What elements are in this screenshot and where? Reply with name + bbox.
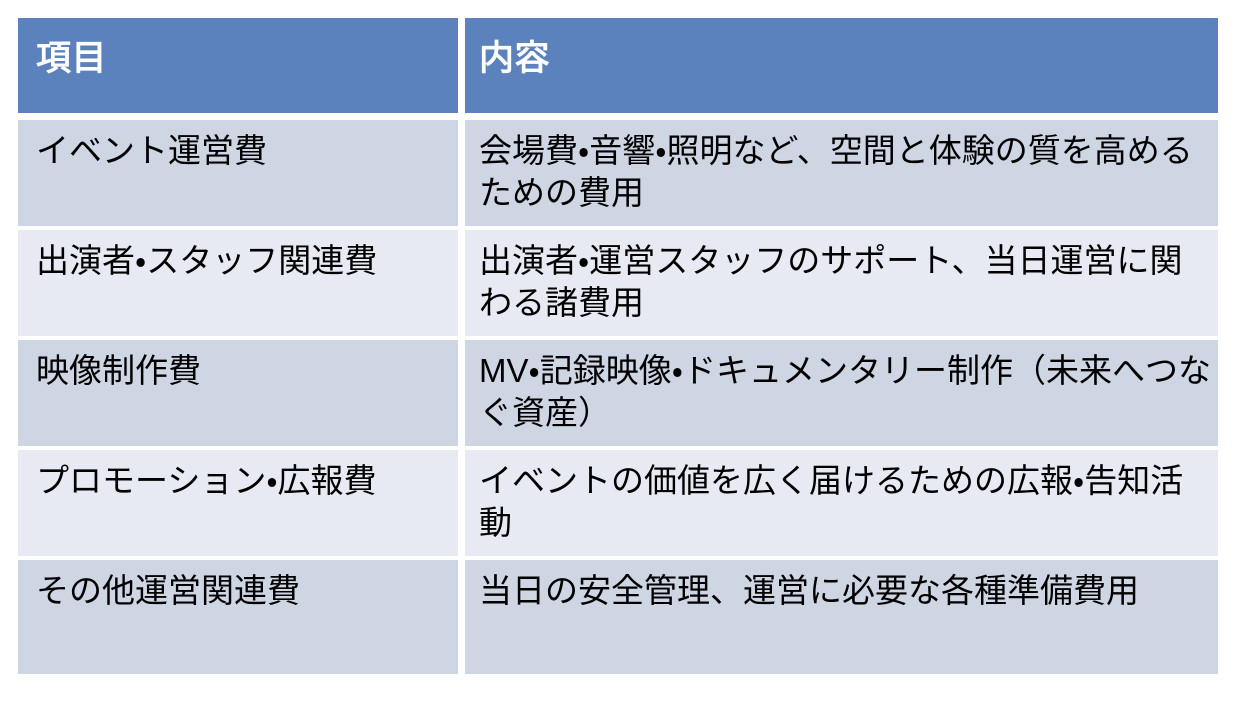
- table-row: 映像制作費 MV・記録映像・ドキュメンタリー制作（未来へつなぐ資産）: [18, 340, 1218, 450]
- description-text: MV・記録映像・ドキュメンタリー制作（未来へつなぐ資産）: [479, 350, 1214, 434]
- table-row: その他運営関連費 当日の安全管理、運営に必要な各種準備費用: [18, 560, 1218, 674]
- table-row: プロモーション・広報費 イベントの価値を広く届けるための広報・告知活動: [18, 450, 1218, 560]
- cell-description: 出演者・運営スタッフのサポート、当日運営に関わる諸費用: [465, 230, 1218, 340]
- cell-description: イベントの価値を広く届けるための広報・告知活動: [465, 450, 1218, 560]
- description-text: 会場費・音響・照明など、空間と体験の質を高めるための費用: [479, 130, 1214, 214]
- item-label: 出演者・スタッフ関連費: [36, 240, 448, 282]
- item-label: イベント運営費: [36, 130, 448, 172]
- cell-description: MV・記録映像・ドキュメンタリー制作（未来へつなぐ資産）: [465, 340, 1218, 450]
- item-label: その他運営関連費: [36, 570, 448, 612]
- cell-item: 出演者・スタッフ関連費: [18, 230, 465, 340]
- description-text: イベントの価値を広く届けるための広報・告知活動: [479, 460, 1214, 544]
- cell-description: 会場費・音響・照明など、空間と体験の質を高めるための費用: [465, 120, 1218, 230]
- table-header-row: 項目 内容: [18, 18, 1218, 120]
- table-header: 項目 内容: [18, 18, 1218, 120]
- item-label: 映像制作費: [36, 350, 448, 392]
- table-row: 出演者・スタッフ関連費 出演者・運営スタッフのサポート、当日運営に関わる諸費用: [18, 230, 1218, 340]
- column-header-item: 項目: [18, 18, 465, 120]
- description-text: 当日の安全管理、運営に必要な各種準備費用: [479, 570, 1214, 612]
- cell-item: プロモーション・広報費: [18, 450, 465, 560]
- table-row: イベント運営費 会場費・音響・照明など、空間と体験の質を高めるための費用: [18, 120, 1218, 230]
- cell-item: イベント運営費: [18, 120, 465, 230]
- column-header-description: 内容: [465, 18, 1218, 120]
- description-text: 出演者・運営スタッフのサポート、当日運営に関わる諸費用: [479, 240, 1214, 324]
- item-label: プロモーション・広報費: [36, 460, 448, 502]
- cell-item: 映像制作費: [18, 340, 465, 450]
- slide-canvas: 項目 内容 イベント運営費 会場費・音響・照明など、空間と体験の質を高めるための…: [0, 0, 1236, 704]
- cell-item: その他運営関連費: [18, 560, 465, 674]
- budget-breakdown-table: 項目 内容 イベント運営費 会場費・音響・照明など、空間と体験の質を高めるための…: [18, 18, 1218, 674]
- table-body: イベント運営費 会場費・音響・照明など、空間と体験の質を高めるための費用 出演者…: [18, 120, 1218, 674]
- cell-description: 当日の安全管理、運営に必要な各種準備費用: [465, 560, 1218, 674]
